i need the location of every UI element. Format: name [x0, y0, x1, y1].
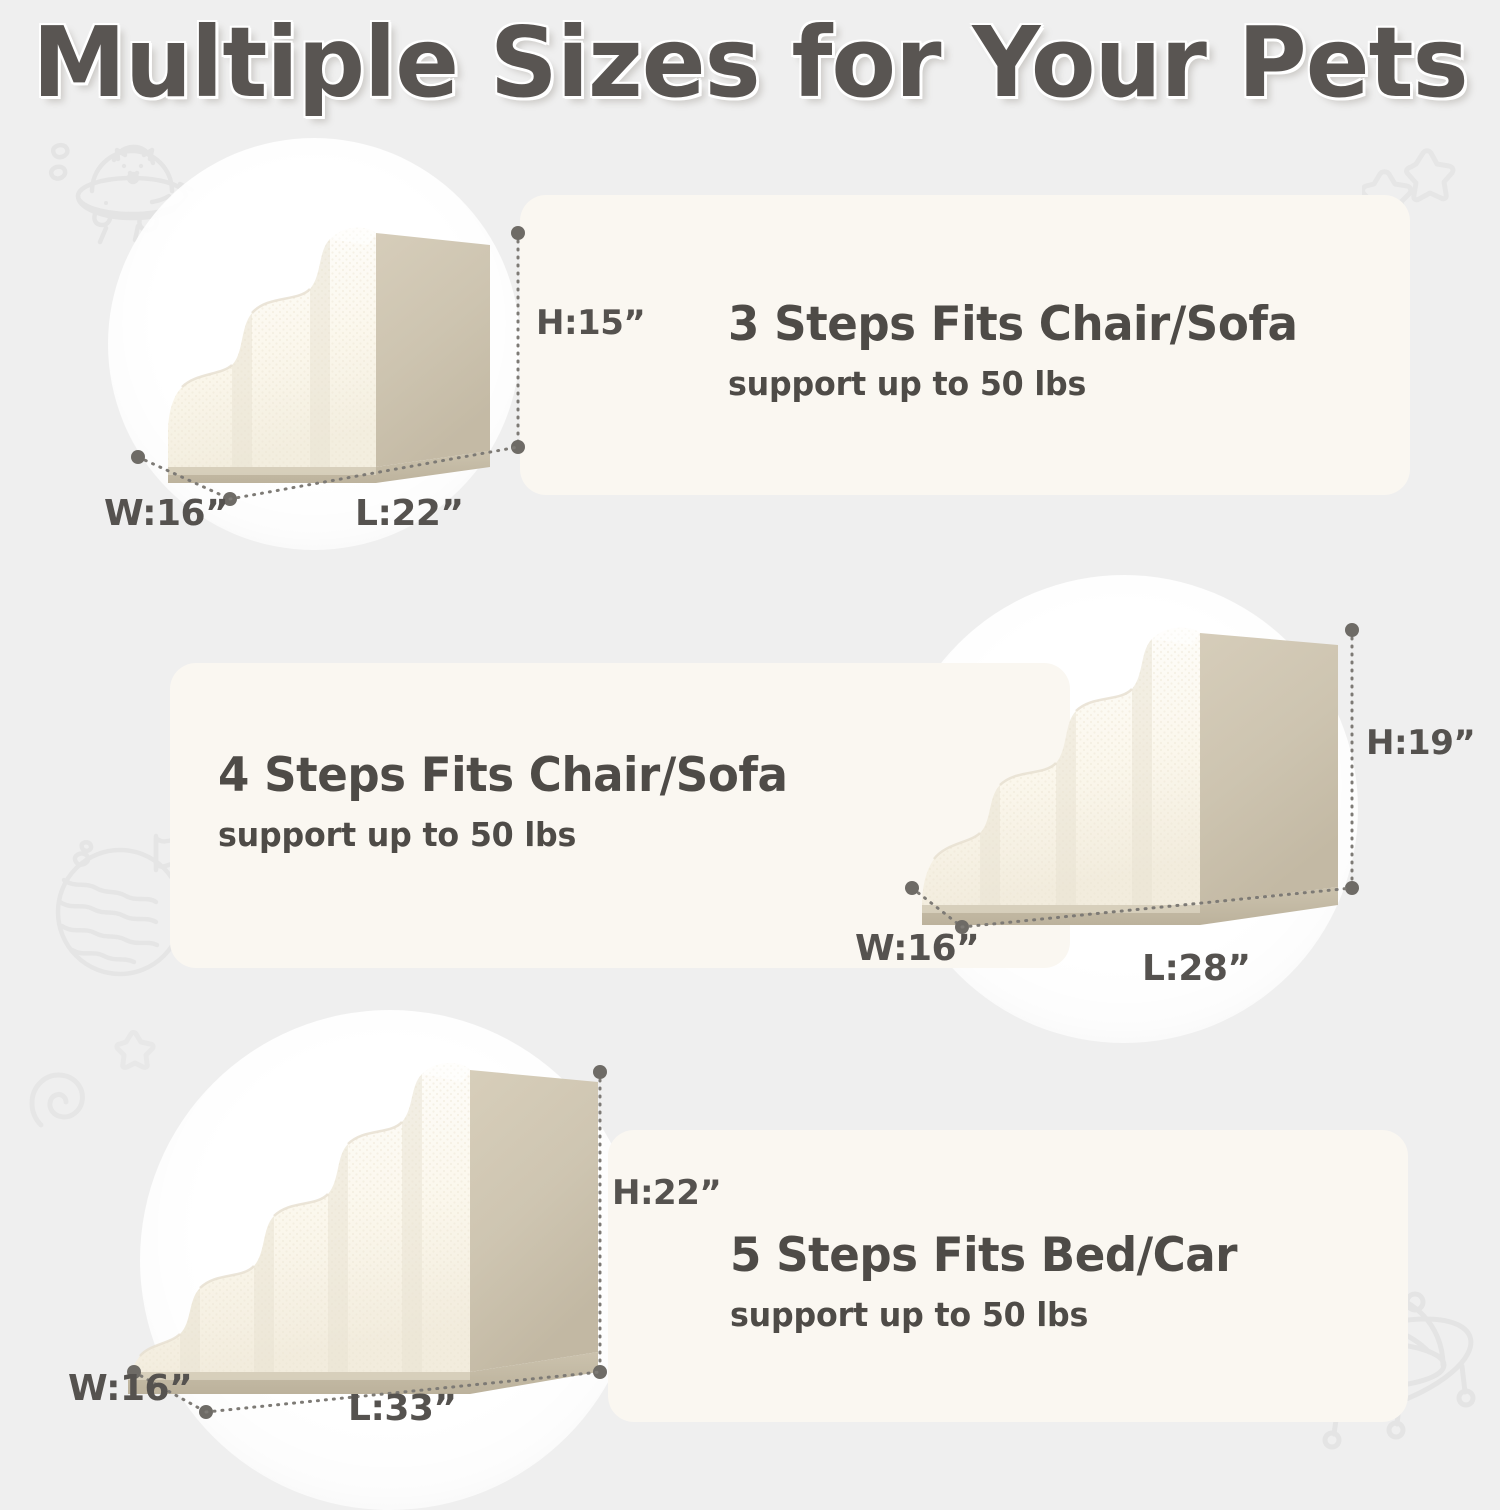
length-label-2: L:28” [1142, 948, 1251, 989]
product-subheading-1: support up to 50 lbs [728, 364, 1297, 403]
dimension-lines-2 [890, 620, 1390, 950]
product-subheading-3: support up to 50 lbs [730, 1295, 1237, 1334]
product-subheading-2: support up to 50 lbs [218, 815, 787, 854]
width-label-3: W:16” [68, 1368, 192, 1409]
height-label-3: H:22” [612, 1173, 721, 1213]
length-label-1: L:22” [355, 493, 464, 534]
spiral-doodle [18, 1060, 108, 1150]
page-title: Multiple Sizes for Your Pets [23, 6, 1478, 119]
product-text-3: 5 Steps Fits Bed/Car support up to 50 lb… [730, 1228, 1258, 1334]
dimension-lines-3 [110, 1060, 630, 1420]
product-text-2: 4 Steps Fits Chair/Sofa support up to 50… [218, 748, 811, 854]
product-heading-3: 5 Steps Fits Bed/Car [730, 1228, 1237, 1283]
dimension-lines-1 [100, 225, 560, 535]
product-heading-2: 4 Steps Fits Chair/Sofa [218, 748, 787, 803]
height-label-1: H:15” [536, 303, 645, 343]
product-text-1: 3 Steps Fits Chair/Sofa support up to 50… [728, 297, 1321, 403]
height-label-2: H:19” [1366, 723, 1475, 763]
width-label-1: W:16” [104, 493, 228, 534]
product-heading-1: 3 Steps Fits Chair/Sofa [728, 297, 1297, 352]
width-label-2: W:16” [855, 928, 979, 969]
length-label-3: L:33” [348, 1388, 457, 1429]
